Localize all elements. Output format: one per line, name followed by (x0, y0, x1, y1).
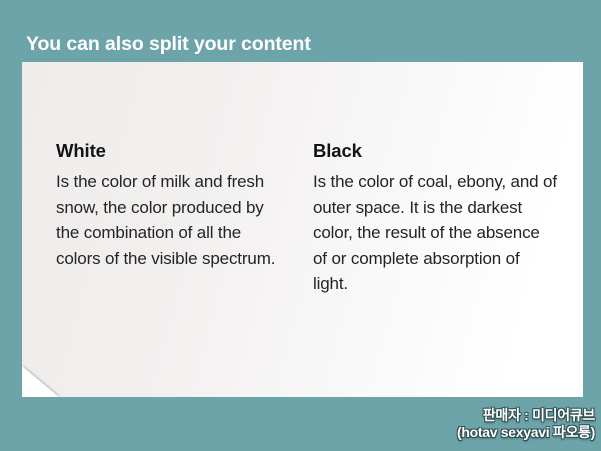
watermark-line-1: 판매자 : 미디어큐브 (483, 407, 595, 423)
watermark: 판매자 : 미디어큐브 (hotav sexyavi 파오룡) (457, 407, 595, 441)
watermark-line-2: (hotav sexyavi 파오룡) (457, 424, 595, 441)
content-column-white: White Is the color of milk and fresh sno… (56, 140, 290, 271)
column-body-black: Is the color of coal, ebony, and of oute… (313, 169, 557, 297)
content-columns: White Is the color of milk and fresh sno… (22, 62, 583, 397)
column-heading-black: Black (313, 140, 557, 162)
page-title: You can also split your content (26, 33, 311, 56)
content-card: White Is the color of milk and fresh sno… (22, 62, 583, 397)
slide-canvas: You can also split your content White Is… (0, 0, 601, 451)
content-column-black: Black Is the color of coal, ebony, and o… (313, 140, 557, 297)
column-body-white: Is the color of milk and fresh snow, the… (56, 169, 290, 271)
column-heading-white: White (56, 140, 290, 162)
page-fold-flap-icon (22, 366, 59, 397)
